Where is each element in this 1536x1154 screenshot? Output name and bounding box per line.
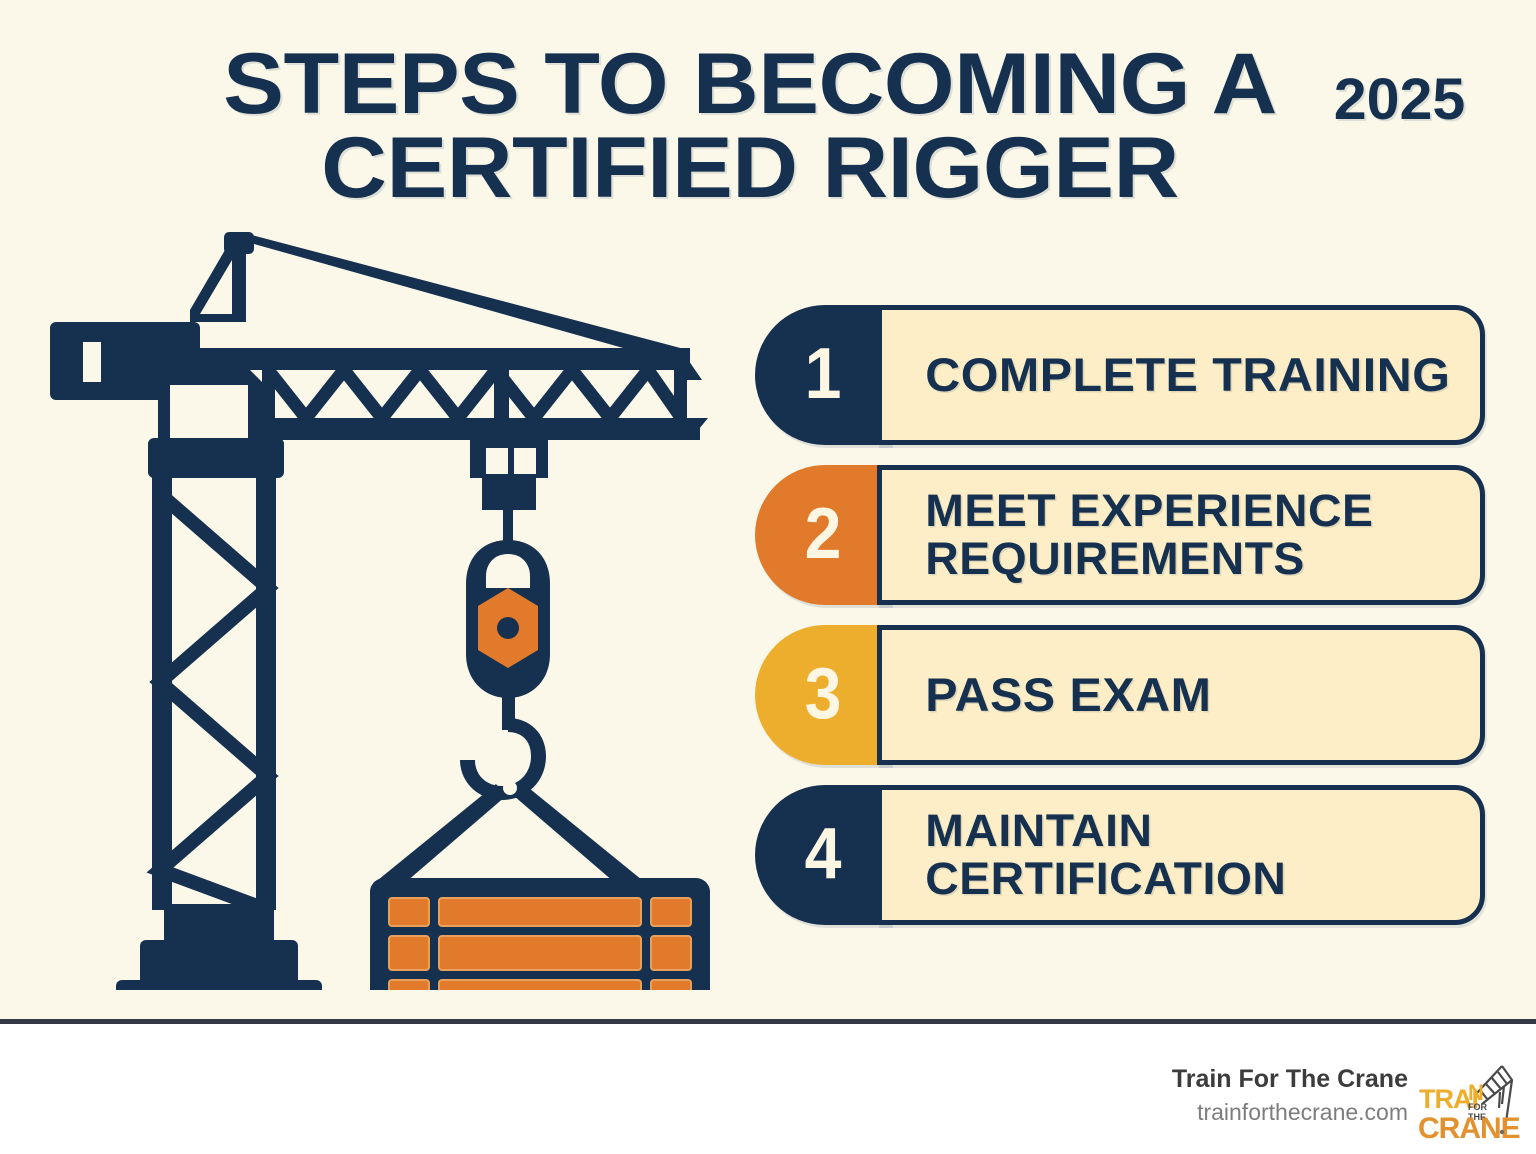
step-number-badge-2: 2 [755,465,891,605]
step-body-1: COMPLETE TRAINING [877,305,1485,445]
brand-url[interactable]: trainforthecrane.com [1172,1098,1408,1128]
page-title: STEPS TO BECOMING A CERTIFIED RIGGER [223,42,1277,211]
step-body-2: MEET EXPERIENCE REQUIREMENTS [877,465,1485,605]
title-line-2: CERTIFIED RIGGER [223,126,1277,210]
step-item-1[interactable]: 1 COMPLETE TRAINING [755,305,1485,445]
step-body-3: PASS EXAM [877,625,1485,765]
step-body-4: MAINTAIN CERTIFICATION [877,785,1485,925]
step-number-1: 1 [805,338,842,410]
train-for-the-crane-logo-icon: TRAI N FOR THE CRANE [1416,1060,1522,1152]
step-number-2: 2 [805,498,842,570]
step-number-4: 4 [805,818,842,890]
svg-text:FOR: FOR [1468,1102,1487,1112]
svg-text:CRANE: CRANE [1418,1112,1520,1145]
step-label-1: COMPLETE TRAINING [882,350,1475,400]
step-number-3: 3 [805,658,842,730]
brand-name: Train For The Crane [1172,1064,1408,1094]
step-item-4[interactable]: 4 MAINTAIN CERTIFICATION [755,785,1485,925]
step-number-badge-4: 4 [755,785,891,925]
infographic-poster: STEPS TO BECOMING A CERTIFIED RIGGER 202… [0,0,1536,1154]
footer-bar: Train For The Crane trainforthecrane.com… [0,1024,1536,1154]
step-number-badge-1: 1 [755,305,891,445]
year-label: 2025 [1334,66,1466,133]
step-item-3[interactable]: 3 PASS EXAM [755,625,1485,765]
title-line-1: STEPS TO BECOMING A [223,42,1277,126]
step-label-4: MAINTAIN CERTIFICATION [882,807,1498,902]
poster-canvas: STEPS TO BECOMING A CERTIFIED RIGGER 202… [0,0,1536,1020]
step-label-3: PASS EXAM [882,670,1236,720]
brand-text-block: Train For The Crane trainforthecrane.com [1172,1064,1408,1128]
steps-list: 1 COMPLETE TRAINING 2 MEET EXPERIENCE RE… [755,305,1485,925]
step-number-badge-3: 3 [755,625,891,765]
headline-block: STEPS TO BECOMING A CERTIFIED RIGGER [0,42,1500,211]
tower-crane-illustration [40,210,740,990]
step-item-2[interactable]: 2 MEET EXPERIENCE REQUIREMENTS [755,465,1485,605]
step-label-2: MEET EXPERIENCE REQUIREMENTS [882,487,1498,582]
